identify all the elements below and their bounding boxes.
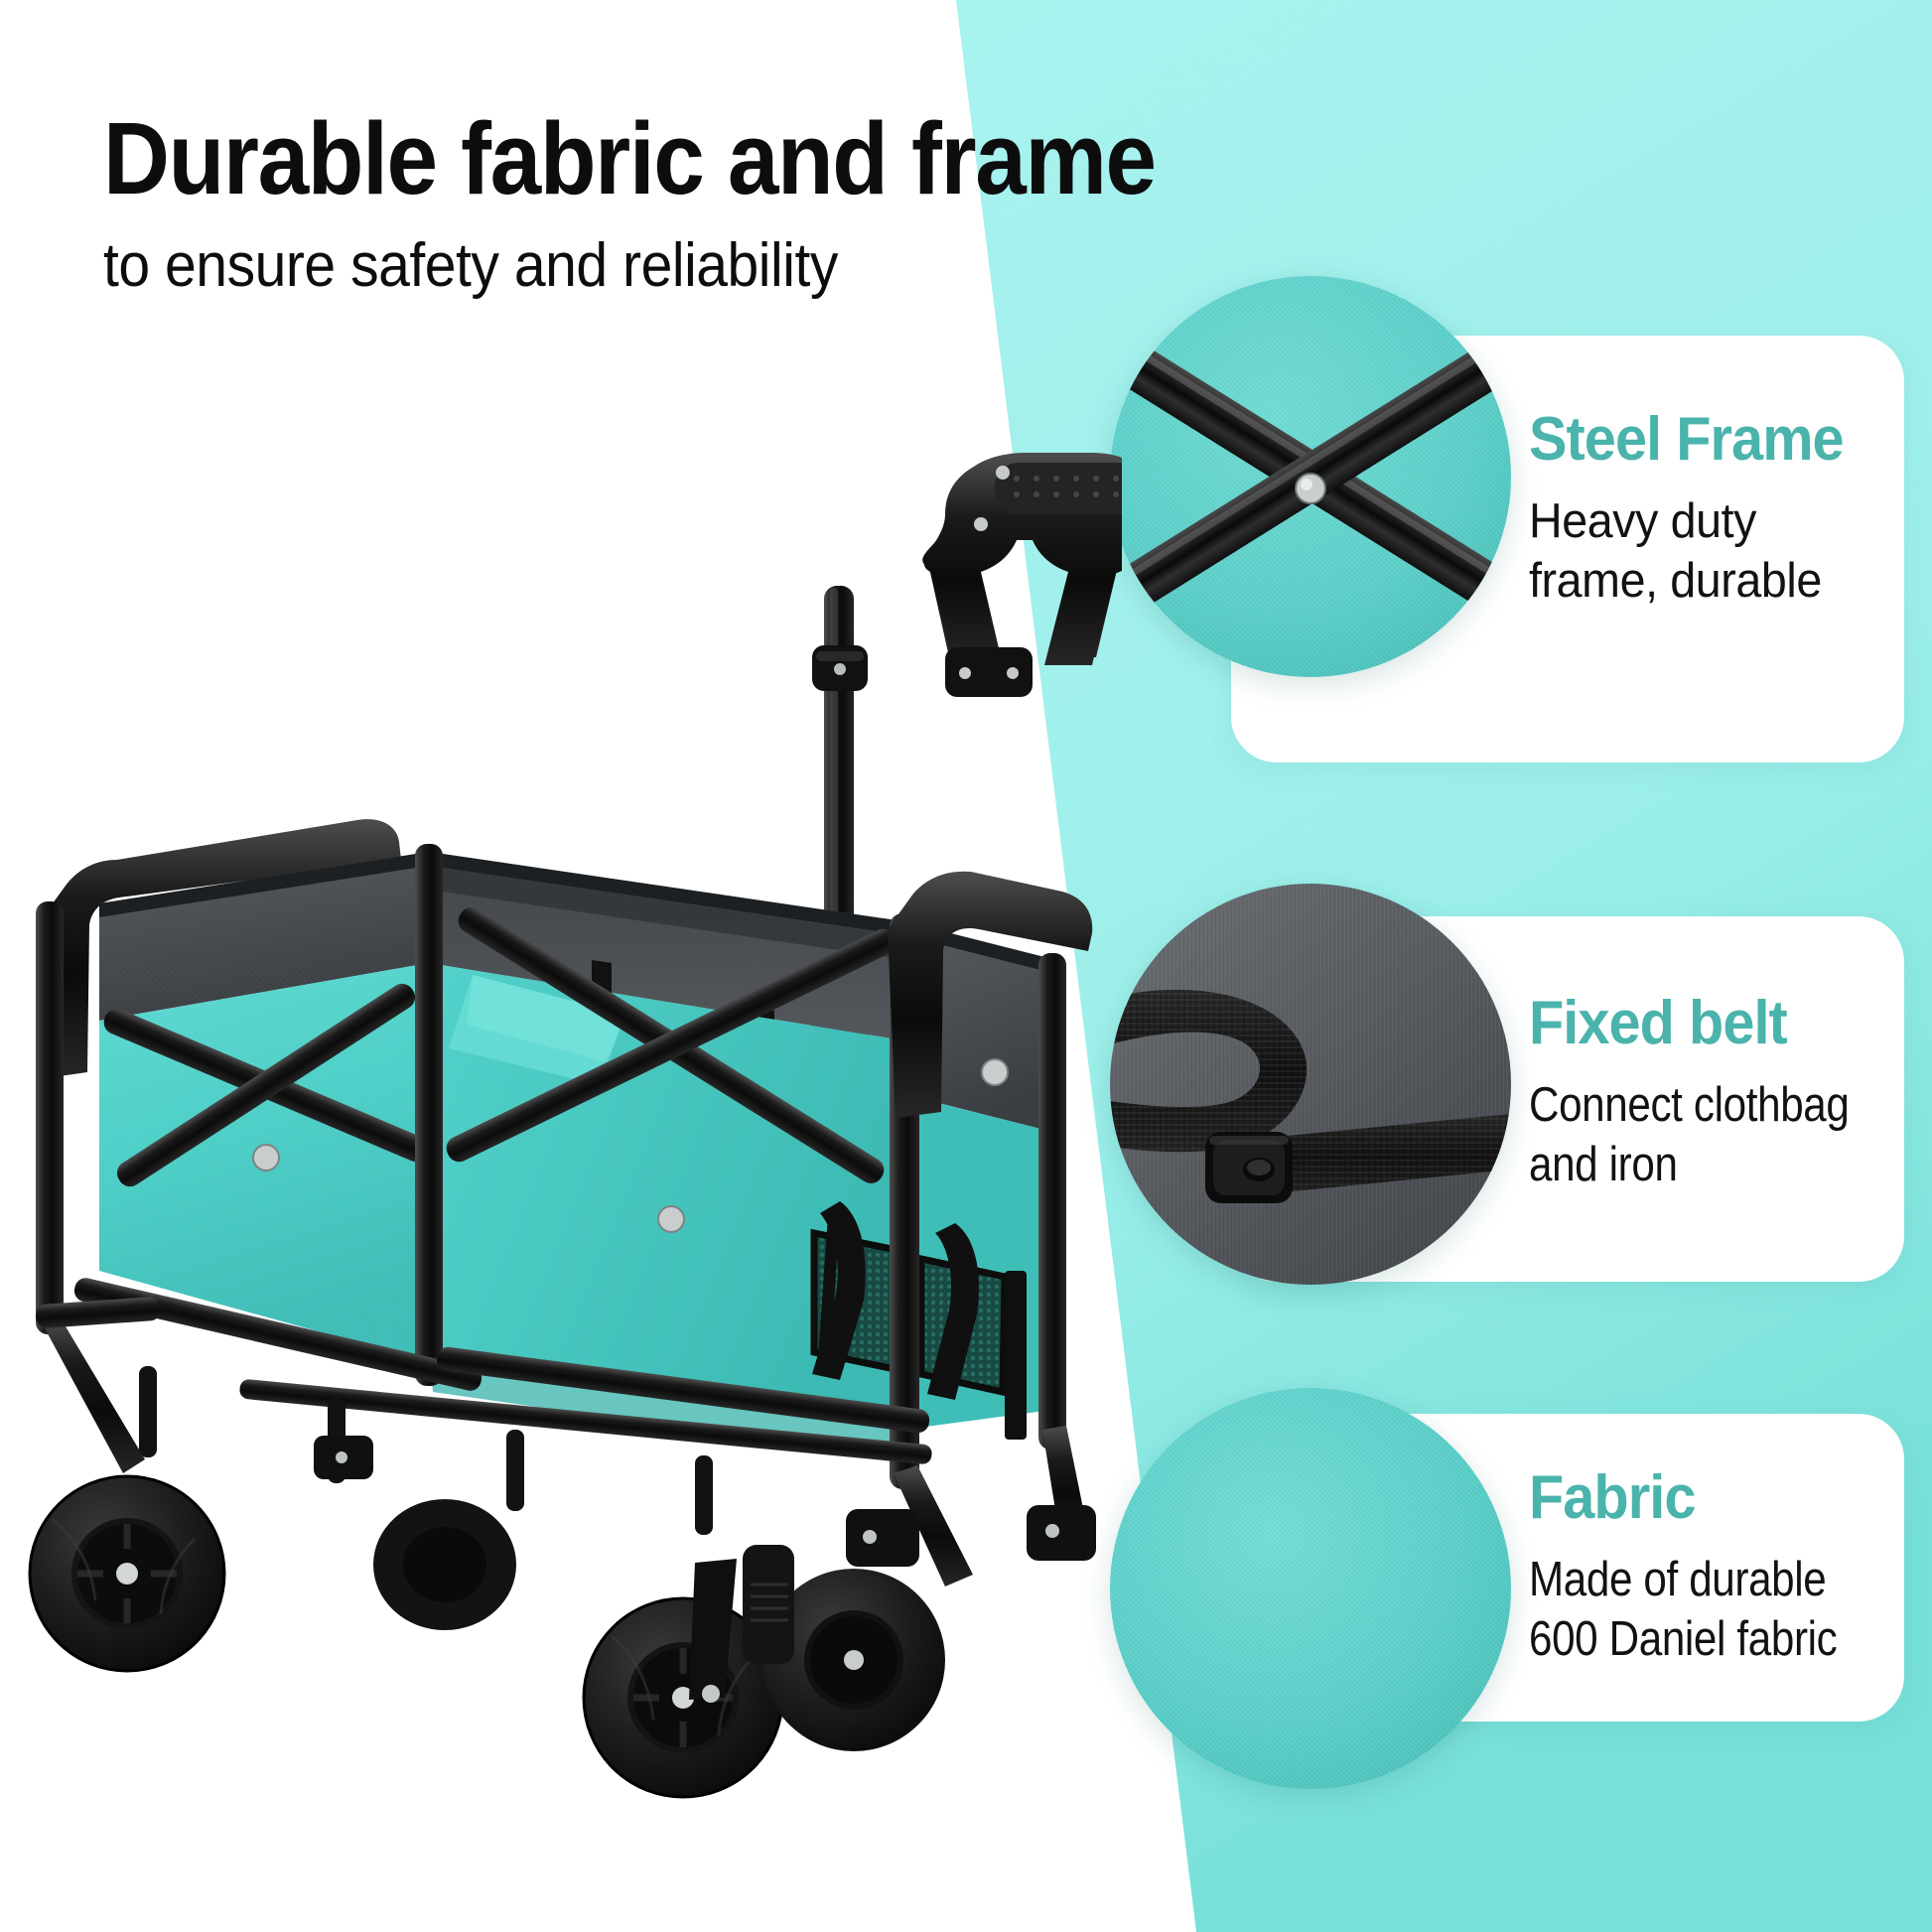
fabric-circle-image [1110, 1388, 1511, 1789]
steel-frame-circle-image [1110, 276, 1511, 677]
folding-wagon-product-photo [0, 377, 1122, 1847]
feature-title-steel-frame: Steel Frame [1529, 409, 1879, 471]
feature-title-fabric: Fabric [1529, 1467, 1879, 1529]
feature-body-fabric: Made of durable 600 Daniel fabric [1529, 1551, 1854, 1670]
black-rubber-wheel [373, 1499, 516, 1630]
page-title: Durable fabric and frame [103, 107, 1050, 209]
belt-buckle [1205, 1132, 1293, 1203]
d-shaped-handle-grip [922, 453, 1122, 697]
headline-block: Durable fabric and frame to ensure safet… [103, 107, 1156, 297]
wheel-group [30, 1476, 945, 1797]
black-rubber-wheel [30, 1476, 224, 1671]
feature-body-fixed-belt: Connect clothbag and iron [1529, 1076, 1854, 1195]
page-subtitle: to ensure safety and reliability [103, 235, 1071, 297]
feature-text-fabric: Fabric Made of durable 600 Daniel fabric [1529, 1467, 1906, 1670]
feature-text-steel-frame: Steel Frame Heavy duty frame, durable [1529, 409, 1906, 612]
infographic-canvas: Durable fabric and frame to ensure safet… [0, 0, 1932, 1932]
feature-body-steel-frame: Heavy duty frame, durable [1529, 492, 1887, 612]
fixed-belt-circle-image [1110, 884, 1511, 1285]
feature-title-fixed-belt: Fixed belt [1529, 993, 1879, 1054]
feature-text-fixed-belt: Fixed belt Connect clothbag and iron [1529, 993, 1906, 1195]
